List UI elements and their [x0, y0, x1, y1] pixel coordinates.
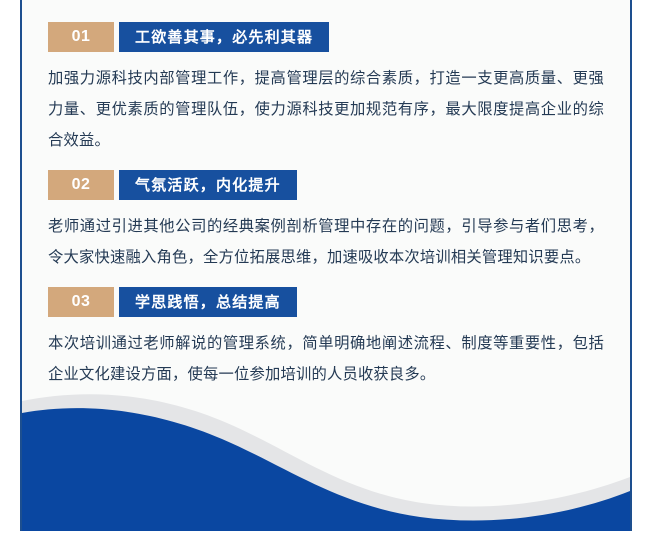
bottom-wave-graphic — [22, 381, 630, 531]
section-index-badge: 02 — [48, 170, 114, 200]
section-01: 01 工欲善其事，必先利其器 加强力源科技内部管理工作，提高管理层的综合素质，打… — [48, 22, 604, 156]
section-heading-01: 01 工欲善其事，必先利其器 — [48, 22, 604, 52]
section-heading-03: 03 学思践悟，总结提高 — [48, 287, 604, 317]
section-body-text: 加强力源科技内部管理工作，提高管理层的综合素质，打造一支更高质量、更强力量、更优… — [48, 63, 604, 156]
sections-container: 01 工欲善其事，必先利其器 加强力源科技内部管理工作，提高管理层的综合素质，打… — [22, 0, 630, 390]
content-card: 01 工欲善其事，必先利其器 加强力源科技内部管理工作，提高管理层的综合素质，打… — [20, 0, 632, 531]
section-index-badge: 03 — [48, 287, 114, 317]
section-03: 03 学思践悟，总结提高 本次培训通过老师解说的管理系统，简单明确地阐述流程、制… — [48, 287, 604, 390]
section-body-text: 老师通过引进其他公司的经典案例剖析管理中存在的问题，引导参与者们思考，令大家快速… — [48, 211, 604, 273]
page-root: 01 工欲善其事，必先利其器 加强力源科技内部管理工作，提高管理层的综合素质，打… — [0, 0, 662, 553]
section-02: 02 气氛活跃，内化提升 老师通过引进其他公司的经典案例剖析管理中存在的问题，引… — [48, 170, 604, 273]
section-title-banner: 学思践悟，总结提高 — [119, 287, 297, 317]
section-title-banner: 气氛活跃，内化提升 — [119, 170, 297, 200]
wave-svg — [22, 381, 630, 531]
section-title-banner: 工欲善其事，必先利其器 — [119, 22, 329, 52]
section-heading-02: 02 气氛活跃，内化提升 — [48, 170, 604, 200]
section-index-badge: 01 — [48, 22, 114, 52]
